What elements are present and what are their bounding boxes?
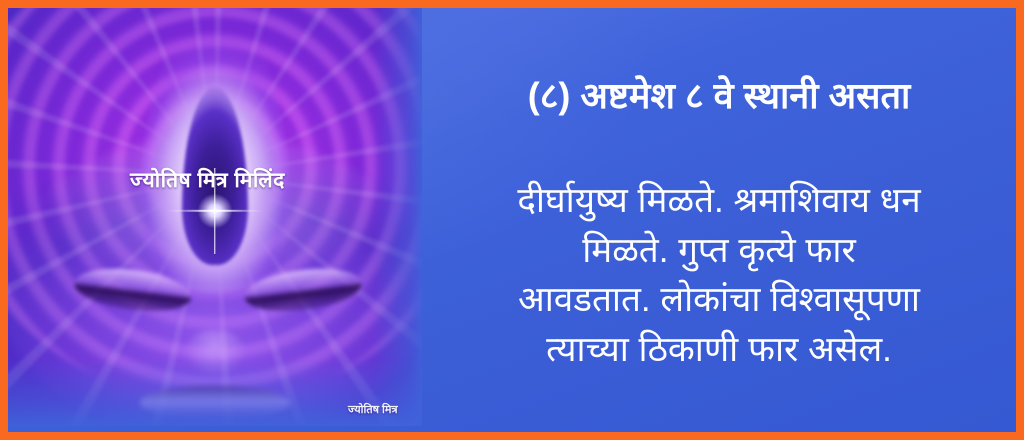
heading-text: (८) अष्टमेश ८ वे स्थानी असता [422, 76, 1016, 116]
violet-flame-image: ज्योतिष मित्र मिलिंद ज्योतिष मित्र [8, 8, 422, 426]
body-line: मिळते. गुप्त कृत्ये फार [422, 226, 1016, 276]
body-line: दीर्घायुष्य मिळते. श्रमाशिवाय धन [422, 176, 1016, 226]
text-column: (८) अष्टमेश ८ वे स्थानी असता दीर्घायुष्य… [422, 8, 1016, 432]
poster-canvas: ज्योतिष मित्र मिलिंद ज्योतिष मित्र (८) अ… [0, 0, 1024, 440]
watermark-main: ज्योतिष मित्र मिलिंद [130, 166, 285, 194]
body-text: दीर्घायुष्य मिळते. श्रमाशिवाय धन मिळते. … [422, 176, 1016, 375]
watermark-corner: ज्योतिष मित्र [348, 402, 398, 417]
poster-inner-area: ज्योतिष मित्र मिलिंद ज्योतिष मित्र (८) अ… [8, 8, 1016, 432]
body-line: आवडतात. लोकांचा विश्वासूपणा [422, 275, 1016, 325]
image-edge-fade [8, 8, 422, 426]
body-line: त्याच्या ठिकाणी फार असेल. [422, 325, 1016, 375]
